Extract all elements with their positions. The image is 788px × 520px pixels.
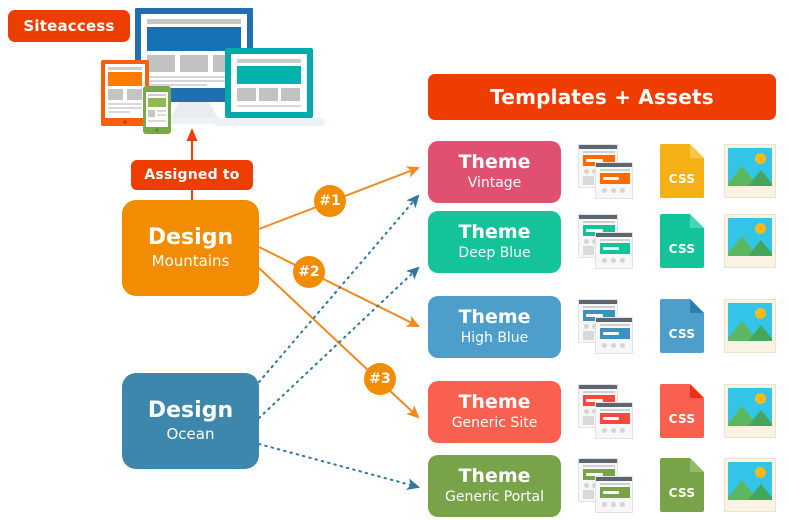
theme-row-generic-site: Theme Generic Site: [428, 381, 776, 443]
theme-title: Theme: [458, 308, 530, 328]
templates-assets-header: Templates + Assets: [428, 74, 776, 120]
image-asset-icon: [724, 299, 776, 353]
connector-ocean-generic-portal: [259, 444, 418, 487]
css-label: CSS: [660, 486, 704, 500]
design-subtitle: Mountains: [152, 252, 230, 270]
theme-box-generic-portal[interactable]: Theme Generic Portal: [428, 455, 561, 517]
css-file-icon: CSS: [660, 384, 704, 438]
css-label: CSS: [660, 412, 704, 426]
theme-title: Theme: [458, 153, 530, 173]
theme-box-deep-blue[interactable]: Theme Deep Blue: [428, 211, 561, 273]
template-stack-icon: [578, 144, 634, 200]
css-file-icon: CSS: [660, 214, 704, 268]
theme-subtitle: High Blue: [461, 330, 529, 346]
theme-row-vintage: Theme Vintage: [428, 141, 776, 203]
design-title: Design: [148, 399, 233, 422]
image-asset-icon: [724, 144, 776, 198]
phone-icon: [143, 86, 171, 134]
connector-mountains-high-blue: [259, 247, 418, 326]
theme-subtitle: Generic Site: [452, 415, 538, 431]
design-subtitle: Ocean: [167, 425, 215, 443]
theme-box-generic-site[interactable]: Theme Generic Site: [428, 381, 561, 443]
laptop-icon: [213, 48, 325, 126]
devices-illustration: [95, 4, 330, 134]
theme-row-high-blue: Theme High Blue: [428, 296, 776, 358]
image-asset-icon: [724, 458, 776, 512]
assigned-to-label: Assigned to: [131, 160, 253, 190]
tablet-icon: [101, 60, 149, 126]
design-title: Design: [148, 226, 233, 249]
theme-title: Theme: [458, 223, 530, 243]
theme-subtitle: Vintage: [468, 175, 522, 191]
connector-badge-2: #2: [293, 256, 325, 288]
design-box-mountains[interactable]: Design Mountains: [122, 200, 259, 296]
image-asset-icon: [724, 384, 776, 438]
template-stack-icon: [578, 458, 634, 514]
css-label: CSS: [660, 242, 704, 256]
css-file-icon: CSS: [660, 299, 704, 353]
template-stack-icon: [578, 384, 634, 440]
theme-subtitle: Generic Portal: [445, 489, 544, 505]
siteaccess-label: Siteaccess: [8, 10, 130, 42]
theme-row-generic-portal: Theme Generic Portal: [428, 455, 776, 517]
theme-title: Theme: [458, 467, 530, 487]
template-stack-icon: [578, 214, 634, 270]
image-asset-icon: [724, 214, 776, 268]
css-label: CSS: [660, 172, 704, 186]
css-label: CSS: [660, 327, 704, 341]
css-file-icon: CSS: [660, 144, 704, 198]
theme-row-deep-blue: Theme Deep Blue: [428, 211, 776, 273]
theme-box-high-blue[interactable]: Theme High Blue: [428, 296, 561, 358]
template-stack-icon: [578, 299, 634, 355]
theme-subtitle: Deep Blue: [458, 245, 530, 261]
design-box-ocean[interactable]: Design Ocean: [122, 373, 259, 469]
diagram-canvas: Siteaccess Assigned to Design Mountains …: [0, 0, 788, 520]
connector-badge-3: #3: [364, 363, 396, 395]
connector-badge-1: #1: [314, 185, 346, 217]
theme-title: Theme: [458, 393, 530, 413]
theme-box-vintage[interactable]: Theme Vintage: [428, 141, 561, 203]
css-file-icon: CSS: [660, 458, 704, 512]
